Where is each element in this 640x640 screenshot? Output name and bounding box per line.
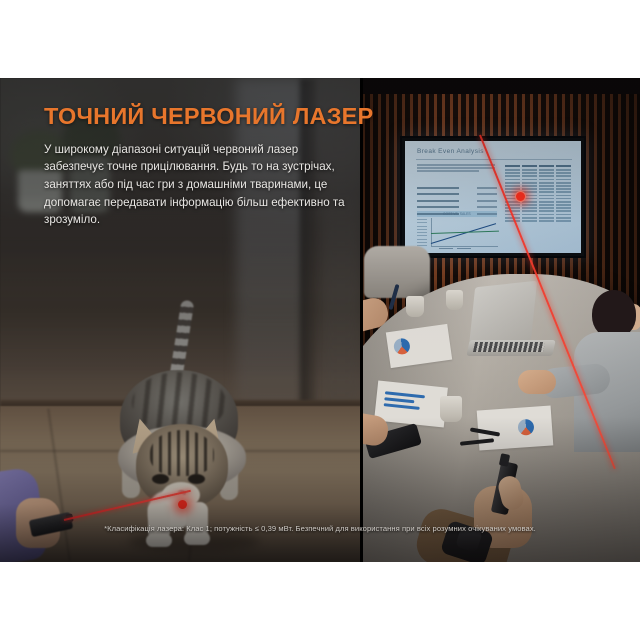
footnote: *Класифікація лазера: Клас 1; потужність…	[0, 518, 640, 536]
copy-block: ТОЧНИЙ ЧЕРВОНИЙ ЛАЗЕР У широкому діапазо…	[44, 104, 354, 229]
body-paragraph: У широкому діапазоні ситуацій червоний л…	[44, 141, 354, 229]
product-banner: Break Even Analysis	[0, 78, 640, 562]
footnote-text: *Класифікація лазера: Клас 1; потужність…	[104, 524, 536, 533]
screenshot-canvas: Break Even Analysis	[0, 0, 640, 640]
page-title: ТОЧНИЙ ЧЕРВОНИЙ ЛАЗЕР	[44, 104, 354, 129]
panel-divider	[360, 78, 363, 562]
right-panel-scrim	[362, 78, 640, 562]
right-scene-meeting-room: Break Even Analysis	[362, 78, 640, 562]
